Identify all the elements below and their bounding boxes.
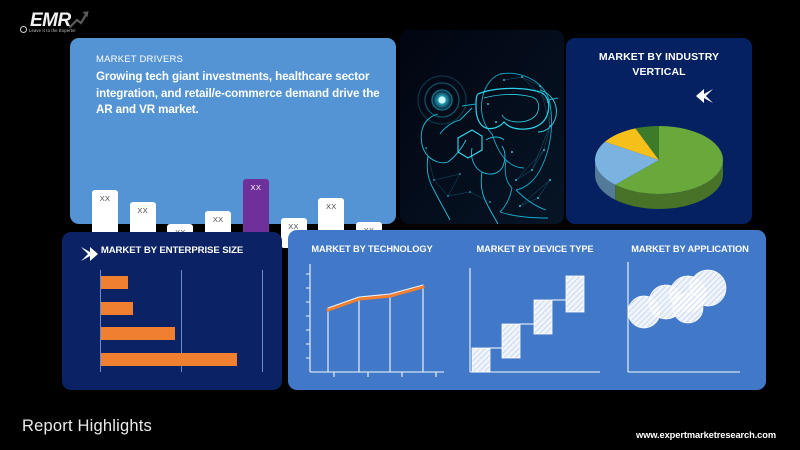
market-drivers-label: MARKET DRIVERS [96, 54, 183, 65]
market-by-application-chart: MARKET BY APPLICATION [614, 230, 766, 390]
industry-vertical-pie-chart [580, 110, 738, 214]
enterprise-bar [101, 353, 237, 366]
device-type-waterfall-svg [456, 230, 614, 390]
vr-wireframe-illustration [400, 30, 564, 224]
slide-canvas: EMR Leave it to the Experts! MARKET DRIV… [0, 0, 800, 450]
market-by-device-type-chart: MARKET BY DEVICE TYPE [456, 230, 614, 390]
device-type-title: MARKET BY DEVICE TYPE [456, 244, 614, 254]
enterprise-gridline [262, 270, 263, 372]
application-bubble-svg [614, 230, 766, 390]
industry-vertical-title-line2: VERTICAL [566, 65, 752, 80]
enterprise-bar [101, 276, 128, 289]
market-by-technology-chart: MARKET BY TECHNOLOGY [288, 230, 456, 390]
vr-headset-image [400, 30, 564, 224]
pie-svg [580, 110, 738, 214]
growth-arrow-icon [68, 9, 90, 29]
emr-logo[interactable]: EMR Leave it to the Experts! [14, 8, 100, 38]
application-title: MARKET BY APPLICATION [614, 244, 766, 254]
market-drivers-headline: Growing tech giant investments, healthca… [96, 69, 380, 119]
enterprise-size-title: MARKET BY ENTERPRISE SIZE [62, 245, 282, 256]
market-by-enterprise-size-panel: MARKET BY ENTERPRISE SIZE [62, 232, 282, 390]
market-by-industry-vertical-panel: MARKET BY INDUSTRY VERTICAL [566, 38, 752, 224]
bottom-charts-panel: MARKET BY TECHNOLOGY MARKET BY DEVICE TY… [288, 230, 766, 390]
website-url[interactable]: www.expertmarketresearch.com [636, 430, 776, 440]
technology-title: MARKET BY TECHNOLOGY [288, 244, 456, 254]
page-title: Report Highlights [22, 417, 152, 436]
double-chevron-left-icon [694, 88, 716, 104]
enterprise-size-bar-chart [100, 270, 264, 372]
enterprise-bar [101, 302, 133, 315]
logo-dot-icon [20, 26, 27, 33]
industry-vertical-title: MARKET BY INDUSTRY VERTICAL [566, 50, 752, 80]
industry-vertical-title-line1: MARKET BY INDUSTRY [566, 50, 752, 65]
enterprise-bar [101, 327, 175, 340]
market-drivers-panel: MARKET DRIVERS Growing tech giant invest… [70, 38, 396, 224]
logo-tagline: Leave it to the Experts! [29, 28, 76, 33]
technology-line-svg [288, 230, 456, 390]
